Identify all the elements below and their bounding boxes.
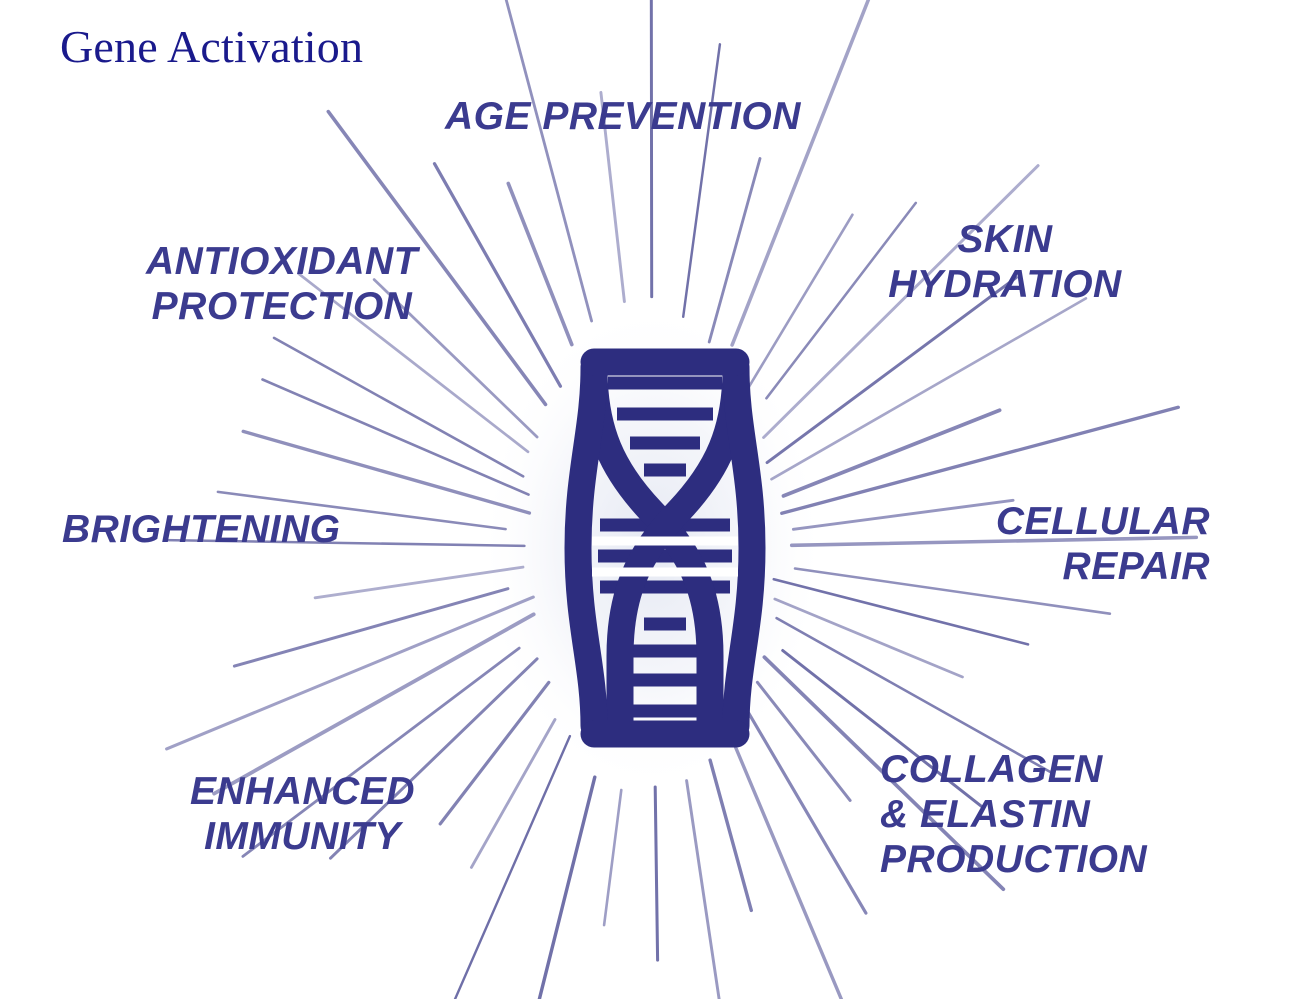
label-collagen-elastin-production: COLLAGEN & ELASTIN PRODUCTION (880, 748, 1200, 883)
ray (604, 790, 621, 925)
ray (687, 781, 746, 999)
ray (510, 777, 595, 999)
ray (435, 164, 561, 387)
ray (651, 0, 652, 297)
label-skin-hydration: SKIN HYDRATION (845, 218, 1165, 308)
ray (655, 787, 657, 960)
ray (490, 0, 591, 321)
ray (729, 732, 860, 999)
ray (234, 589, 508, 666)
gene-activation-infographic: Gene Activation (0, 0, 1290, 999)
ray (749, 215, 852, 387)
ray (440, 682, 549, 824)
label-cellular-repair: CELLULAR REPAIR (900, 500, 1210, 590)
label-brightening: BRIGHTENING (62, 508, 341, 553)
ray (782, 407, 1179, 513)
ray (167, 597, 534, 749)
ray (757, 682, 850, 800)
ray (471, 720, 555, 868)
ray (263, 380, 529, 495)
label-age-prevention: AGE PREVENTION (445, 95, 801, 140)
ray (710, 760, 751, 910)
ray (683, 44, 720, 317)
label-antioxidant-protection: ANTIOXIDANT PROTECTION (112, 240, 452, 330)
ray (772, 298, 1086, 479)
ray (274, 338, 523, 477)
ray (709, 159, 760, 343)
label-enhanced-immunity: ENHANCED IMMUNITY (150, 770, 455, 860)
